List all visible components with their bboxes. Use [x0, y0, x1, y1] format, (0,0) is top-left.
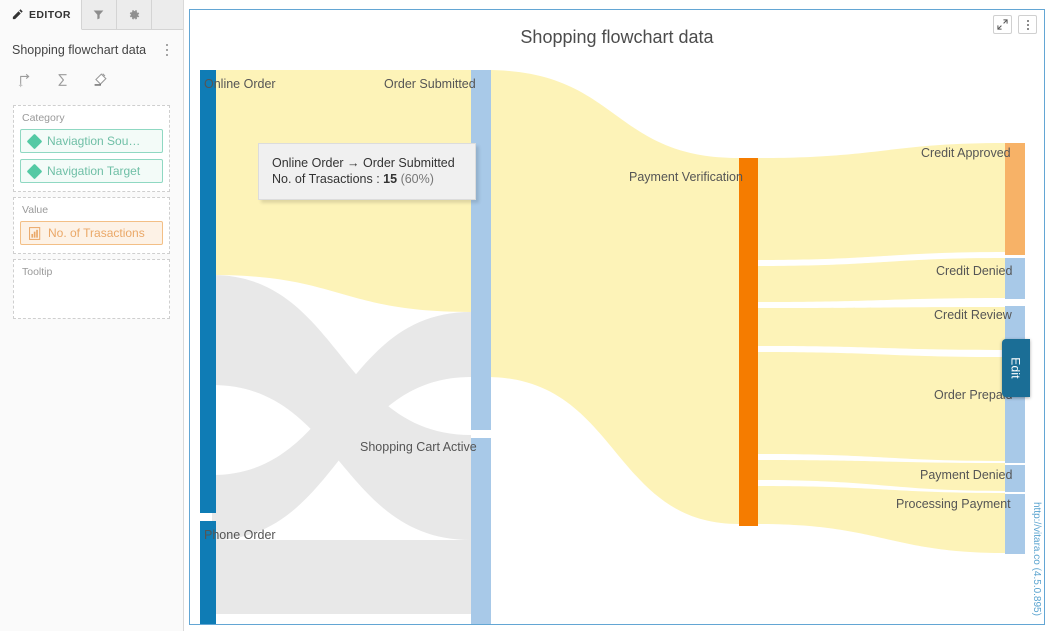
tooltip-measure-row: No. of Trasactions : 15 (60%) [272, 171, 463, 187]
tooltip-measure-value: 15 [383, 172, 397, 186]
link-pv-credit-review[interactable] [758, 307, 1005, 350]
eraser-icon[interactable] [90, 70, 110, 90]
link-pv-processing-payment[interactable] [758, 486, 1005, 553]
brand-version-label: http://vitara.co (4.5.0.895) [1031, 502, 1042, 616]
shelf-tooltip[interactable]: Tooltip [13, 259, 170, 319]
pill-label: Navigation Target [47, 164, 140, 178]
link-pv-credit-approved[interactable] [758, 143, 1005, 260]
app-root: EDITOR Shopping flowchart dat [0, 0, 1053, 631]
link-pv-order-prepaid[interactable] [758, 352, 1005, 461]
node-processing-payment[interactable] [1005, 494, 1025, 554]
sankey-chart [190, 10, 1044, 624]
shelf-tooltip-label: Tooltip [20, 265, 163, 283]
tooltip-measure-label: No. of Trasactions : [272, 172, 380, 186]
node-order-submitted[interactable] [471, 70, 491, 430]
tab-editor[interactable]: EDITOR [0, 0, 82, 30]
tab-filter[interactable] [82, 0, 117, 29]
flow-tooltip: Online Order → Order Submitted No. of Tr… [258, 143, 476, 200]
link-order-submitted-payment-verification[interactable] [486, 70, 739, 524]
calculated-field-icon[interactable] [16, 70, 36, 90]
tab-editor-label: EDITOR [29, 9, 71, 21]
node-online-order[interactable] [200, 70, 216, 513]
edit-tab-label: Edit [1009, 357, 1023, 378]
tab-settings[interactable] [117, 0, 152, 29]
shelf-category: Category Naviagtion Sou… Navigation Targ… [13, 105, 170, 192]
panel-more-icon[interactable] [159, 41, 175, 59]
shelf-value-label: Value [20, 203, 163, 221]
panel-header: Shopping flowchart data [0, 30, 183, 68]
edit-tab-button[interactable]: Edit [1002, 339, 1030, 397]
pill-navigation-target[interactable]: Navigation Target [20, 159, 163, 183]
shelf-category-label: Category [20, 111, 163, 129]
shelf-value: Value No. of Trasactions [13, 197, 170, 254]
summation-icon[interactable] [53, 70, 73, 90]
filter-icon [92, 8, 106, 22]
tooltip-flow-text: Online Order → Order Submitted [272, 155, 463, 171]
measure-icon [29, 227, 41, 240]
diamond-icon [27, 133, 43, 149]
node-credit-approved[interactable] [1005, 143, 1025, 255]
pill-label: Naviagtion Sou… [47, 134, 140, 148]
visualization-panel: Shopping flowchart data [189, 9, 1045, 625]
editor-sidebar: EDITOR Shopping flowchart dat [0, 0, 184, 631]
pill-label: No. of Trasactions [48, 226, 145, 240]
editor-toolbar [0, 68, 183, 100]
panel-title: Shopping flowchart data [12, 43, 146, 57]
diamond-icon [27, 163, 43, 179]
link-phone-order-shopping-cart[interactable] [212, 540, 471, 614]
tooltip-measure-percent: (60%) [401, 172, 434, 186]
link-pv-credit-denied[interactable] [758, 258, 1005, 302]
gear-icon [127, 8, 141, 22]
node-payment-verification[interactable] [739, 158, 758, 526]
pill-no-of-transactions[interactable]: No. of Trasactions [20, 221, 163, 245]
node-payment-denied[interactable] [1005, 465, 1025, 492]
node-credit-denied[interactable] [1005, 258, 1025, 299]
pill-navigation-source[interactable]: Naviagtion Sou… [20, 129, 163, 153]
node-shopping-cart-active[interactable] [471, 438, 491, 624]
sidebar-tabbar: EDITOR [0, 0, 183, 30]
pencil-icon [10, 8, 24, 22]
node-phone-order[interactable] [200, 521, 216, 624]
